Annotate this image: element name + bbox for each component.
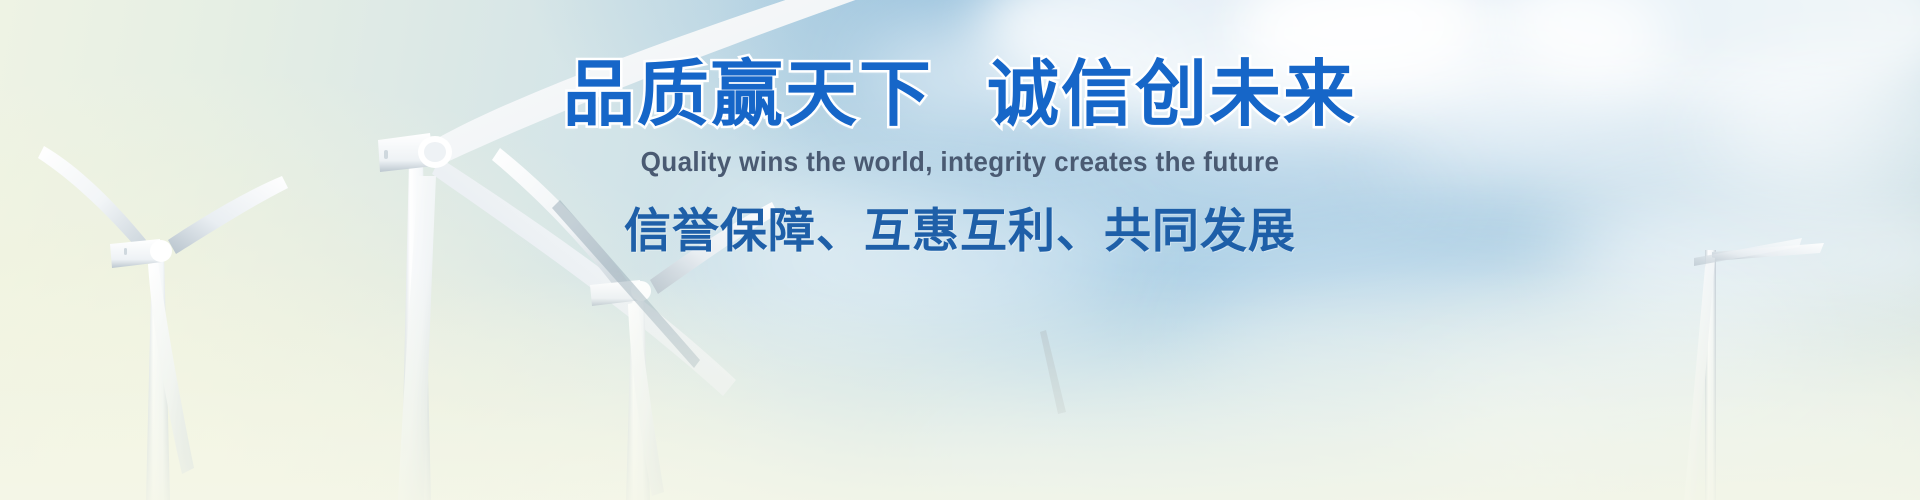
bottom-haze xyxy=(0,270,1920,500)
hero-banner: 品质赢天下 诚信创未来 Quality wins the world, inte… xyxy=(0,0,1920,500)
